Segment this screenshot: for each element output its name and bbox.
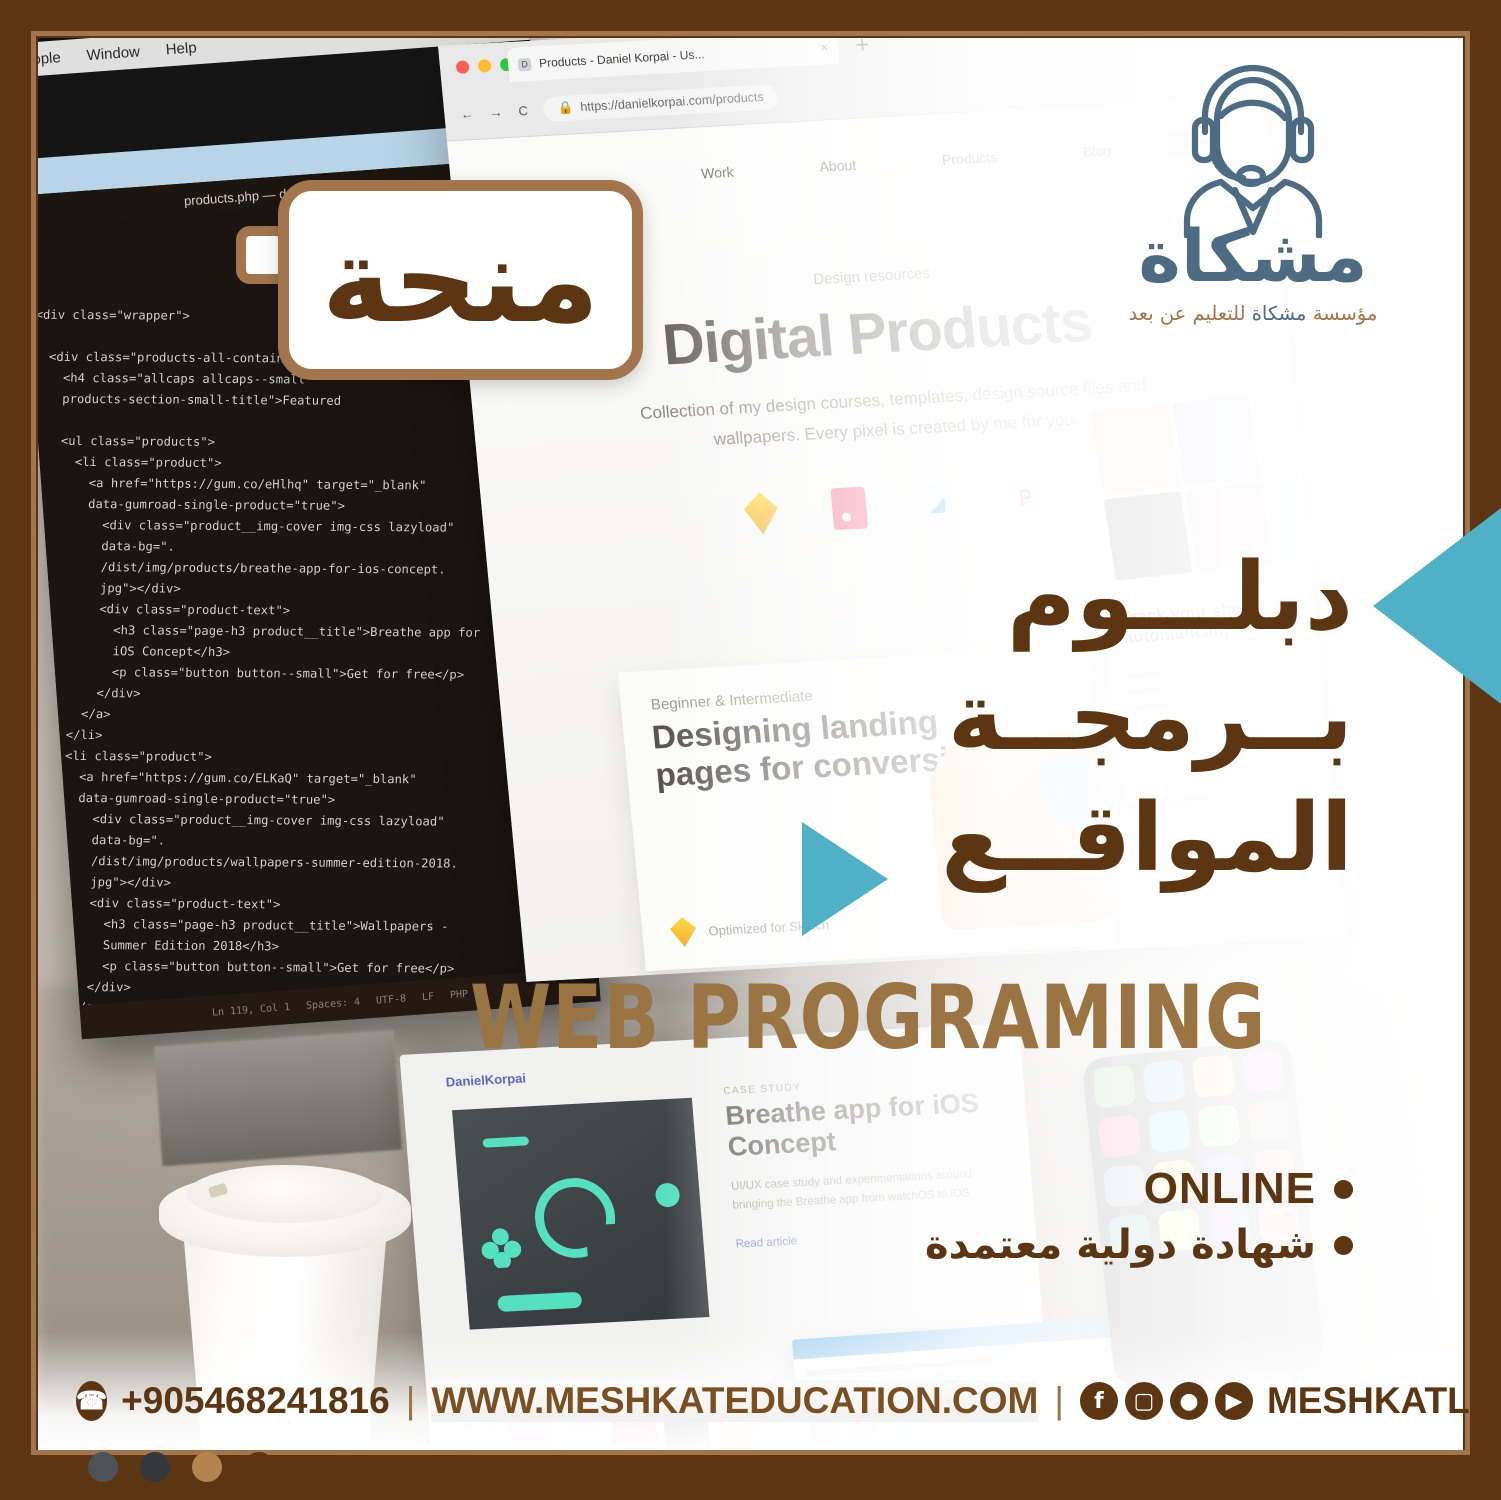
teal-play-triangle: [802, 822, 888, 936]
footer-separator: |: [1052, 1380, 1066, 1422]
principle-icon: P: [1006, 477, 1044, 521]
status-encoding: UTF-8: [376, 993, 407, 1006]
phone-number[interactable]: +905468241816: [121, 1380, 390, 1422]
menu-item-help: Help: [165, 39, 197, 58]
forward-icon: →: [489, 104, 503, 120]
nav-item-blog: Blog: [1082, 143, 1112, 160]
tagline-part-2: مشكاة: [1252, 302, 1307, 325]
teal-arrow-right-edge: [1373, 508, 1501, 704]
bullet-dot-icon: [1334, 1236, 1353, 1255]
dot-2: [140, 1452, 170, 1482]
back-icon: ←: [460, 106, 474, 122]
url-input: 🔒 https://danielkorpai.com/products: [543, 84, 779, 122]
instagram-icon[interactable]: ▢: [1125, 1382, 1163, 1420]
browser-tab-label: Products - Daniel Korpai - Us...: [538, 47, 705, 70]
sketchbook-icon: ◢: [918, 482, 956, 526]
case-study-title: Breathe app for iOS Concept: [724, 1087, 999, 1164]
tablet-logo-second: Korpai: [484, 1070, 526, 1087]
footer-separator: |: [404, 1380, 418, 1422]
scholarship-badge: منحة: [278, 180, 643, 380]
close-icon: ×: [820, 40, 828, 54]
bullet-online: ONLINE: [925, 1164, 1353, 1214]
course-level: Beginner & Intermediate: [650, 688, 813, 714]
facebook-icon[interactable]: f: [1080, 1382, 1118, 1420]
english-subtitle: WEB PROGRAMING: [470, 966, 1266, 1069]
favicon: D: [517, 57, 531, 71]
bottom-decorative-dots: [88, 1452, 274, 1482]
new-tab-icon: +: [854, 38, 871, 56]
logo-tagline: مؤسسة مشكاة للتعليم عن بعد: [1123, 302, 1383, 325]
minimize-window-icon: [477, 59, 491, 73]
headline-line-3: المواقــع: [941, 779, 1353, 899]
reload-icon: C: [518, 103, 529, 118]
dot-4: [244, 1452, 274, 1482]
nav-item-work: Work: [700, 164, 734, 182]
bullet-label-certificate: شهادة دولية معتمدة: [925, 1222, 1316, 1268]
tablet-logo-first: Daniel: [445, 1073, 485, 1090]
bullet-certificate: شهادة دولية معتمدة: [925, 1222, 1353, 1268]
social-icons: f ▢ ● ▶: [1080, 1382, 1253, 1420]
badge-label: منحة: [322, 221, 600, 339]
page-title: دبلـــوم بــرمجــة المواقــع: [941, 538, 1353, 899]
tablet-site-logo: DanielKorpai: [445, 1070, 526, 1089]
twitter-icon[interactable]: ●: [1170, 1382, 1208, 1420]
status-language: PHP: [450, 988, 469, 1000]
nav-item-products: Products: [941, 149, 998, 168]
whatsapp-icon[interactable]: ☎: [76, 1381, 107, 1421]
nav-item-about: About: [819, 157, 857, 175]
dot-1: [88, 1452, 118, 1482]
poster-canvas: eople Window Help products.php — danielk…: [0, 0, 1501, 1500]
social-handle[interactable]: MESHKATLEARN: [1267, 1380, 1501, 1422]
sketch-icon: [669, 916, 698, 947]
dot-3: [192, 1452, 222, 1482]
tagline-part-1: مؤسسة: [1313, 302, 1378, 325]
status-line-col: Ln 119, Col 1: [212, 1001, 291, 1018]
feature-bullets: ONLINE شهادة دولية معتمدة: [925, 1164, 1353, 1276]
menu-item-window: Window: [86, 43, 140, 64]
tagline-part-3: للتعليم عن بعد: [1129, 302, 1246, 325]
bullet-label-online: ONLINE: [1144, 1164, 1316, 1214]
status-spaces: Spaces: 4: [306, 996, 361, 1011]
sketch-icon: [742, 491, 780, 535]
status-eol: LF: [422, 991, 435, 1003]
logo-wordmark: مشكاة: [1123, 220, 1383, 292]
lock-icon: 🔒: [557, 100, 574, 116]
breathe-app-screenshot: [452, 1098, 709, 1330]
youtube-icon[interactable]: ▶: [1215, 1382, 1253, 1420]
figma-icon: [830, 487, 868, 531]
headset-agent-icon: [1165, 58, 1341, 238]
url-text: https://danielkorpai.com/products: [580, 90, 765, 114]
brand-logo: مشكاة مؤسسة مشكاة للتعليم عن بعد: [1123, 58, 1383, 325]
menu-item-people: eople: [38, 49, 61, 69]
breathe-ring-graphic: [532, 1176, 618, 1260]
contact-footer: ☎ +905468241816 | WWW.MESHKATEDUCATION.C…: [76, 1380, 1431, 1422]
window-controls: [455, 58, 513, 74]
headline-line-1: دبلـــوم: [941, 538, 1353, 658]
website-url[interactable]: WWW.MESHKATEDUCATION.COM: [431, 1380, 1038, 1422]
close-window-icon: [455, 60, 469, 74]
breathe-flower-graphic: [480, 1227, 523, 1269]
headline-line-2: بــرمجــة: [941, 658, 1353, 778]
bullet-dot-icon: [1334, 1180, 1353, 1199]
